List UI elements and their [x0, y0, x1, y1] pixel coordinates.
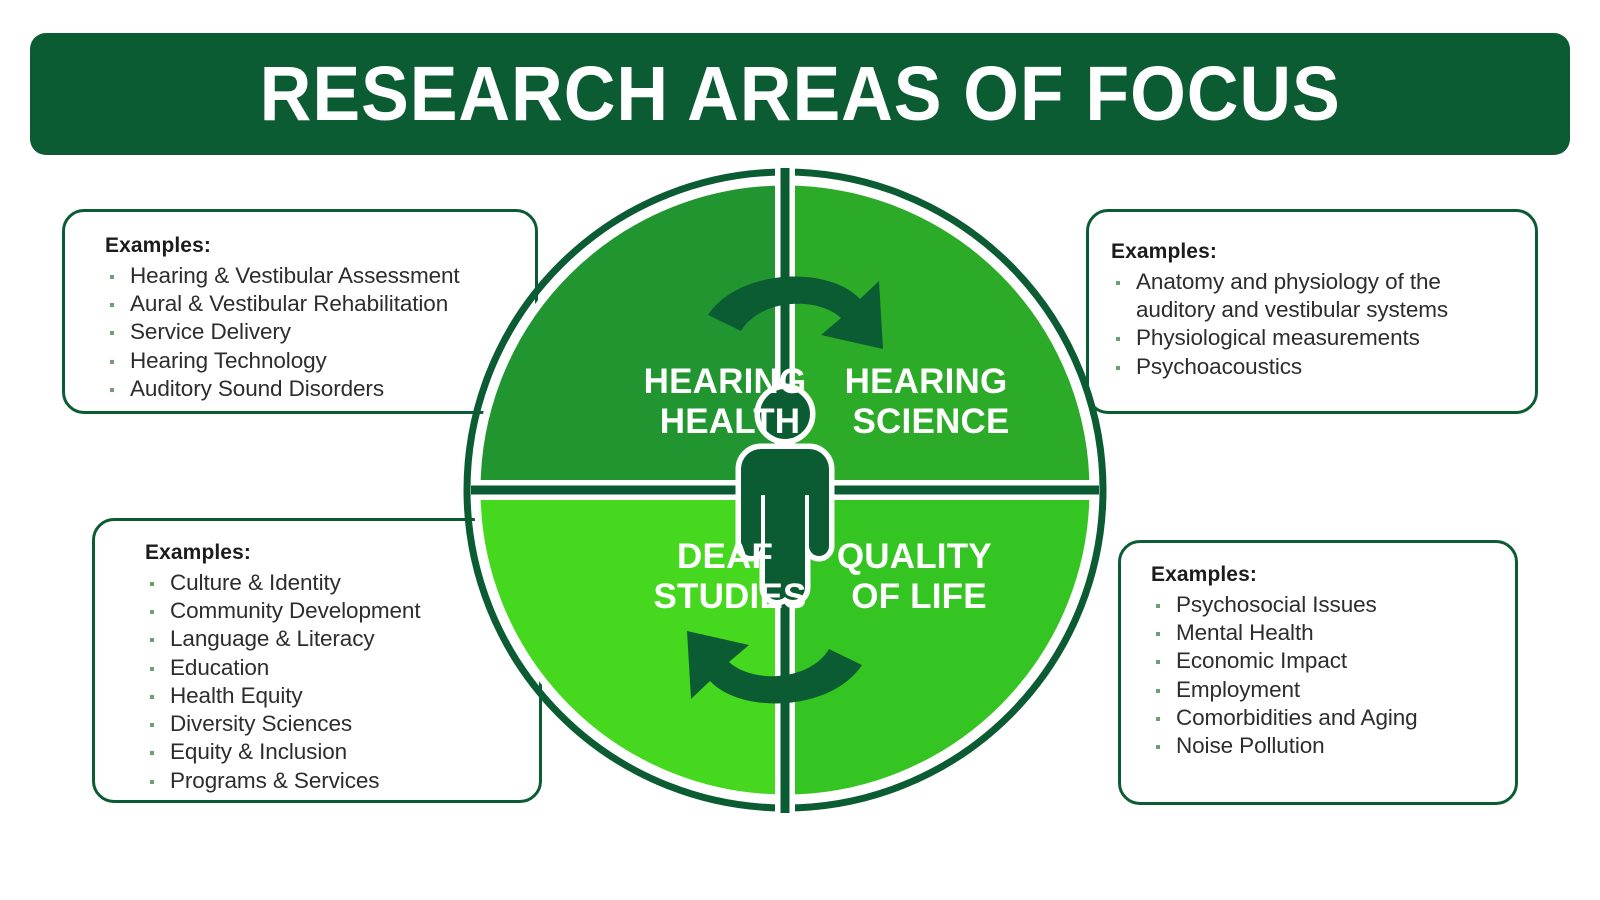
list-item: Psychoacoustics — [1111, 353, 1509, 381]
examples-list-hearing-science: Anatomy and physiology of the auditory a… — [1111, 268, 1509, 381]
research-wheel-diagram: HEARING HEALTH HEARING SCIENCE DEAF STUD… — [455, 165, 1115, 835]
examples-label: Examples: — [1111, 240, 1509, 264]
list-item: Physiological measurements — [1111, 324, 1509, 352]
list-item: Employment — [1151, 676, 1489, 704]
list-item: Economic Impact — [1151, 647, 1489, 675]
examples-card-hearing-science: Examples: Anatomy and physiology of the … — [1086, 209, 1538, 414]
list-item: Mental Health — [1151, 619, 1489, 647]
examples-list-hearing-health: Hearing & Vestibular Assessment Aural & … — [105, 262, 509, 403]
examples-label: Examples: — [105, 234, 509, 258]
list-item: Auditory Sound Disorders — [105, 375, 509, 403]
list-item: Noise Pollution — [1151, 732, 1489, 760]
examples-list-quality-of-life: Psychosocial Issues Mental Health Econom… — [1151, 591, 1489, 760]
examples-label: Examples: — [1151, 563, 1489, 587]
examples-card-quality-of-life: Examples: Psychosocial Issues Mental Hea… — [1118, 540, 1518, 805]
quadrant-label-hearing-science: HEARING SCIENCE — [845, 362, 1018, 441]
list-item: Service Delivery — [105, 318, 509, 346]
list-item: Aural & Vestibular Rehabilitation — [105, 290, 509, 318]
list-item: Hearing Technology — [105, 347, 509, 375]
list-item: Psychosocial Issues — [1151, 591, 1489, 619]
page-title: RESEARCH AREAS OF FOCUS — [259, 56, 1340, 133]
list-item: Hearing & Vestibular Assessment — [105, 262, 509, 290]
quadrant-label-quality-of-life: QUALITY OF LIFE — [837, 537, 1001, 616]
quadrant-label-hearing-health: HEARING HEALTH — [644, 362, 817, 441]
page-title-banner: RESEARCH AREAS OF FOCUS — [30, 33, 1570, 155]
list-item: Anatomy and physiology of the auditory a… — [1111, 268, 1509, 324]
list-item: Comorbidities and Aging — [1151, 704, 1489, 732]
